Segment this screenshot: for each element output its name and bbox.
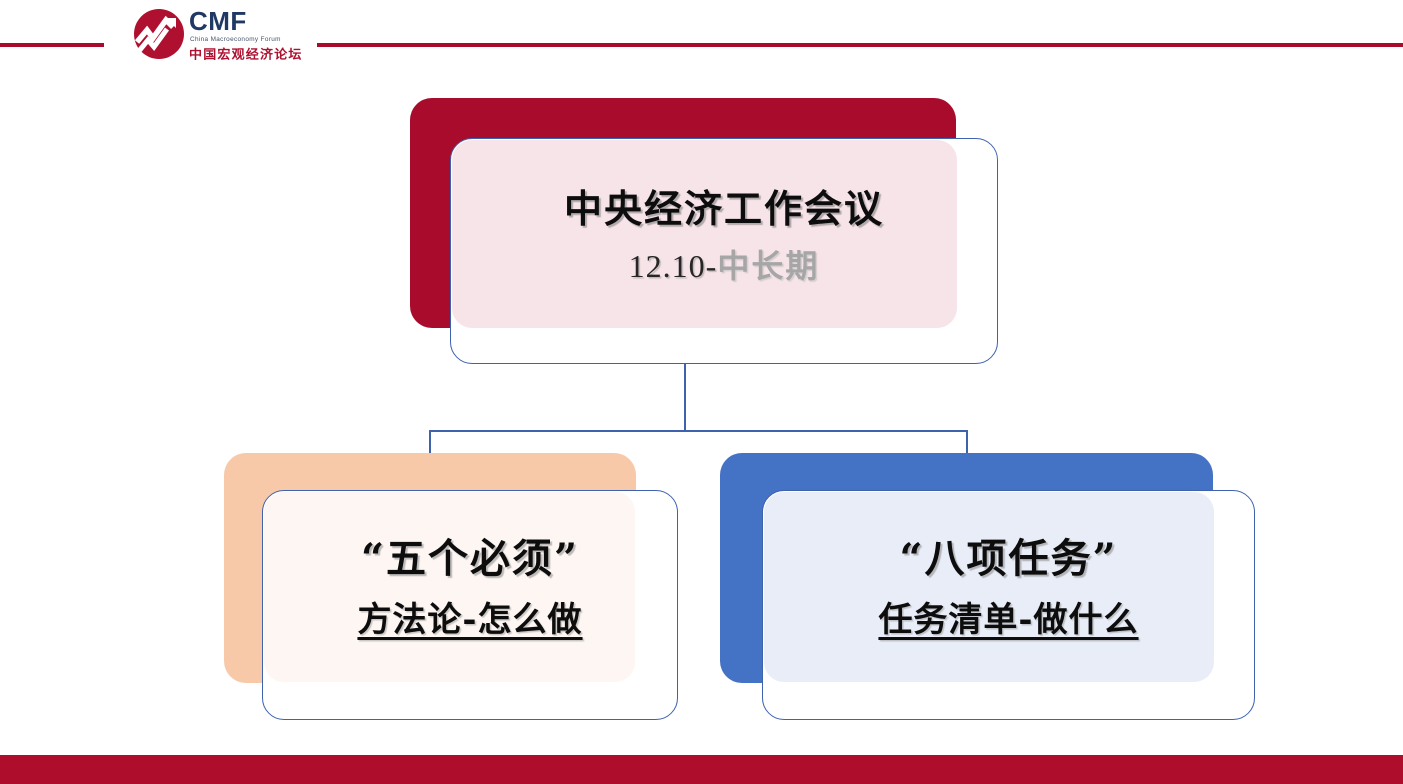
node-right-body: “八项任务” 任务清单-做什么 [764,492,1253,684]
node-right-headline: “八项任务” [899,535,1117,583]
node-eight-tasks[interactable]: “八项任务” 任务清单-做什么 [0,0,1403,784]
footer-bar [0,755,1403,784]
slide-canvas: CMF China Macroeconomy Forum 中国宏观经济论坛 中央… [0,0,1403,784]
node-right-caption: 任务清单-做什么 [878,599,1138,642]
